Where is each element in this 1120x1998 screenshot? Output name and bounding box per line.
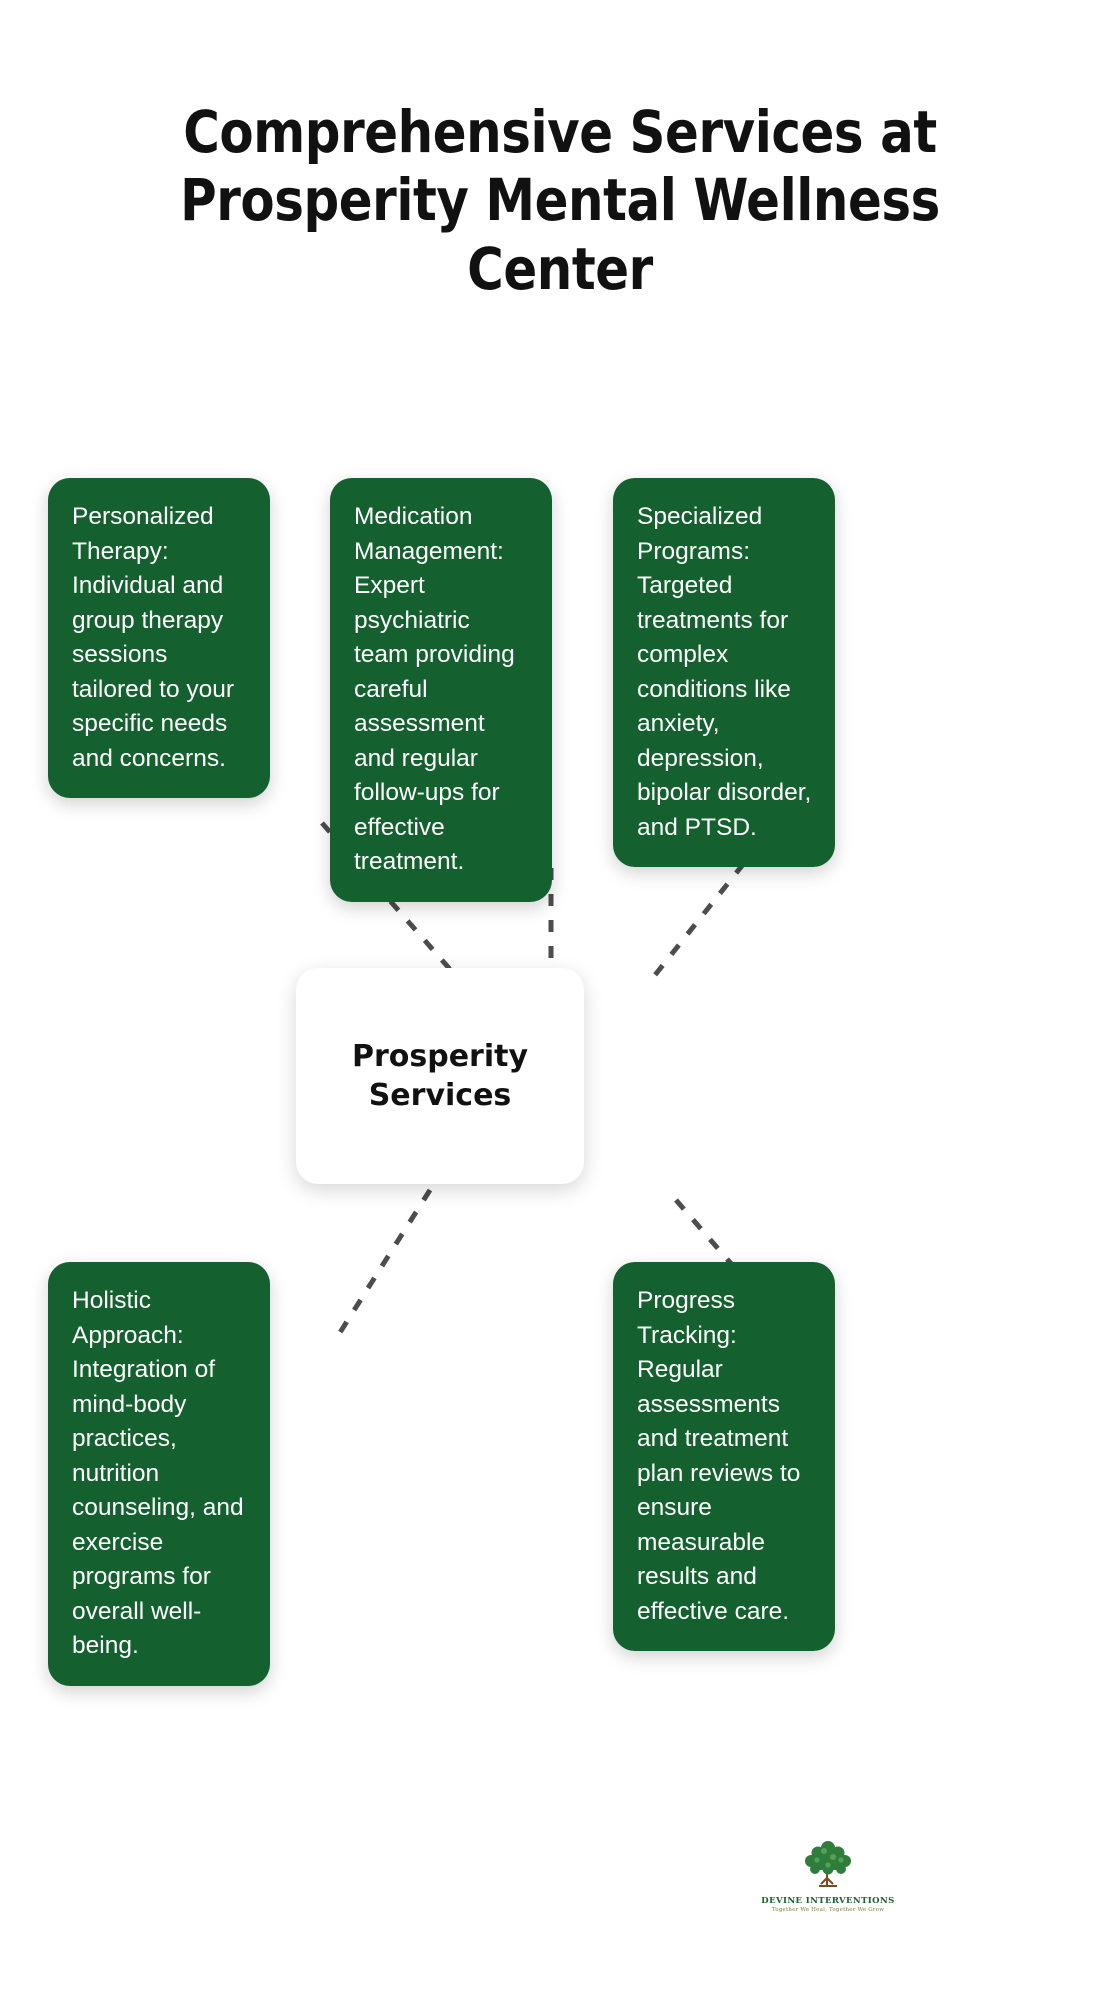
center-hub-node[interactable]: Prosperity Services (296, 968, 584, 1184)
service-card-specialized-programs[interactable]: Specialized Programs: Targeted treatment… (613, 478, 835, 867)
infographic-page: Comprehensive Services at Prosperity Men… (0, 0, 1120, 1998)
tree-icon (797, 1836, 859, 1894)
service-card-personalized-therapy[interactable]: Personalized Therapy: Individual and gro… (48, 478, 270, 798)
connector-holistic-approach (334, 1190, 430, 1342)
page-title: Comprehensive Services at Prosperity Men… (156, 98, 964, 303)
service-card-medication-management[interactable]: Medication Management: Expert psychiatri… (330, 478, 552, 902)
brand-logo: DEVINE INTERVENTIONS Together We Heal, T… (748, 1836, 908, 1913)
service-card-holistic-approach[interactable]: Holistic Approach: Integration of mind-b… (48, 1262, 270, 1686)
service-card-progress-tracking[interactable]: Progress Tracking: Regular assessments a… (613, 1262, 835, 1651)
logo-brand-name: DEVINE INTERVENTIONS (748, 1896, 908, 1906)
center-hub-label: Prosperity Services (296, 1037, 584, 1115)
logo-tagline: Together We Heal, Together We Grow (748, 1907, 908, 1913)
